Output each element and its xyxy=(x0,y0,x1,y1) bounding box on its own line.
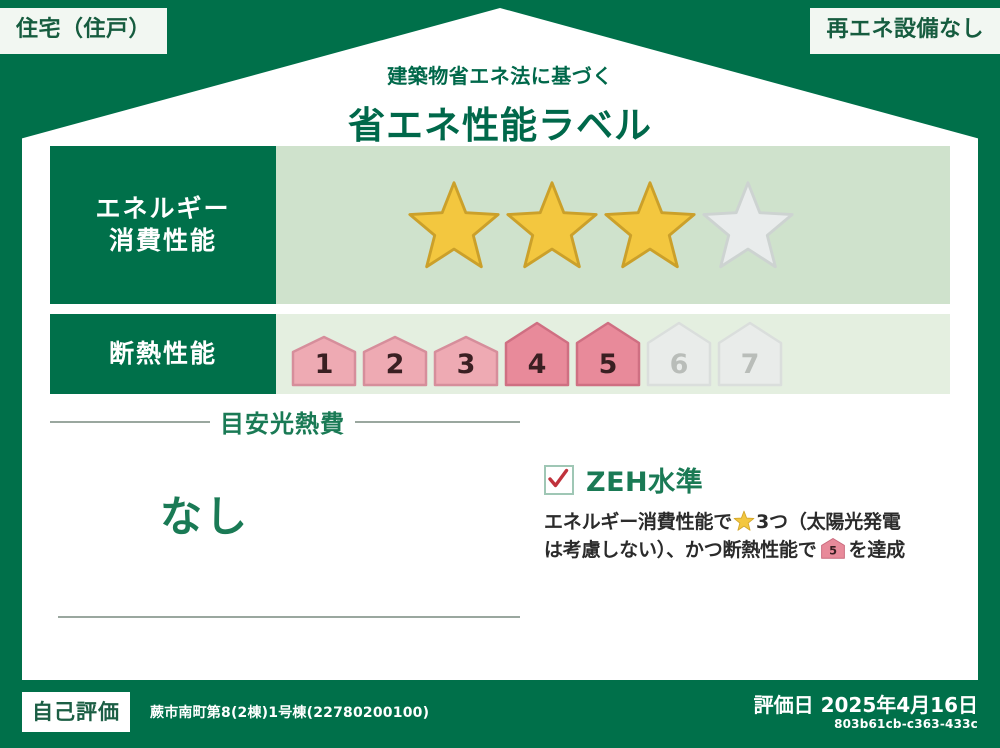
zeh-title: ZEH水準 xyxy=(586,460,703,499)
title-subtitle: 建築物省エネ法に基づく xyxy=(0,60,1000,89)
zeh-desc-part3: は考慮しない）、かつ断熱性能で xyxy=(544,539,817,561)
insulation-performance-label-head: 断熱性能 xyxy=(50,314,276,394)
lower-content: 目安光熱費 なし ZEH水準 エネルギー消費性能で3つ（太陽光発電は考慮しない）… xyxy=(50,404,950,666)
check-icon xyxy=(546,467,570,491)
serial-number: 803b61cb-c363-433c xyxy=(834,717,978,731)
grade-number: 4 xyxy=(503,349,571,380)
grade-house-2: 2 xyxy=(361,335,429,387)
grade-house-scale: 1234567 xyxy=(290,321,784,387)
grade-number: 3 xyxy=(432,349,500,380)
zeh-desc-part2: 3つ（太陽光発電 xyxy=(756,511,901,533)
utility-cost-heading: 目安光熱費 xyxy=(220,404,345,439)
utility-cost-block: 目安光熱費 なし xyxy=(50,404,520,544)
energy-head-line2: 消費性能 xyxy=(109,225,217,257)
insulation-performance-row: 断熱性能 1234567 xyxy=(50,314,950,394)
grade-house-5: 5 xyxy=(574,321,642,387)
heading-rule-right xyxy=(355,421,520,423)
inline-grade-number: 5 xyxy=(829,543,837,557)
star-filled-icon xyxy=(406,177,502,273)
page-title: 省エネ性能ラベル xyxy=(0,95,1000,149)
self-evaluation-badge: 自己評価 xyxy=(22,692,130,732)
zeh-desc-part1: エネルギー消費性能で xyxy=(544,511,732,533)
title-block: 建築物省エネ法に基づく 省エネ性能ラベル xyxy=(0,60,1000,149)
energy-performance-value xyxy=(276,146,950,304)
energy-performance-row: エネルギー 消費性能 xyxy=(50,146,950,304)
heading-rule-left xyxy=(50,421,210,423)
zeh-desc-part4: を達成 xyxy=(849,539,905,561)
zeh-checkbox[interactable] xyxy=(544,465,574,495)
utility-cost-bottom-rule xyxy=(58,616,520,618)
building-type-tag: 住宅（住戸） xyxy=(0,8,167,54)
star-filled-icon xyxy=(504,177,600,273)
star-empty-icon xyxy=(700,177,796,273)
energy-performance-label: 住宅（住戸） 再エネ設備なし 建築物省エネ法に基づく 省エネ性能ラベル エネルギ… xyxy=(0,0,1000,748)
grade-house-1: 1 xyxy=(290,335,358,387)
grade-house-3: 3 xyxy=(432,335,500,387)
zeh-block: ZEH水準 エネルギー消費性能で3つ（太陽光発電は考慮しない）、かつ断熱性能で5… xyxy=(544,460,950,567)
star-filled-icon xyxy=(602,177,698,273)
footer: 自己評価 蕨市南町第8(2棟)1号棟(22780200100) 評価日 2025… xyxy=(0,680,1000,748)
inline-star-icon xyxy=(733,510,755,532)
grade-number: 7 xyxy=(716,349,784,380)
grade-number: 5 xyxy=(574,349,642,380)
grade-house-6: 6 xyxy=(645,321,713,387)
grade-number: 2 xyxy=(361,349,429,380)
energy-performance-label-head: エネルギー 消費性能 xyxy=(50,146,276,304)
energy-head-line1: エネルギー xyxy=(95,193,230,225)
insulation-head-line1: 断熱性能 xyxy=(109,338,217,370)
zeh-title-row: ZEH水準 xyxy=(544,460,950,499)
property-name: 蕨市南町第8(2棟)1号棟(22780200100) xyxy=(150,702,429,722)
zeh-description: エネルギー消費性能で3つ（太陽光発電は考慮しない）、かつ断熱性能で5を達成 xyxy=(544,509,950,567)
renewable-energy-tag: 再エネ設備なし xyxy=(810,8,1000,54)
grade-number: 6 xyxy=(645,349,713,380)
inline-grade-badge: 5 xyxy=(820,537,846,568)
insulation-performance-value: 1234567 xyxy=(276,314,950,394)
grade-house-7: 7 xyxy=(716,321,784,387)
evaluation-date: 評価日 2025年4月16日 xyxy=(754,689,978,718)
grade-number: 1 xyxy=(290,349,358,380)
star-rating xyxy=(406,177,796,273)
grade-house-4: 4 xyxy=(503,321,571,387)
utility-cost-heading-row: 目安光熱費 xyxy=(50,404,520,439)
utility-cost-value: なし xyxy=(50,483,520,544)
grade-house-icon: 5 xyxy=(820,537,846,559)
